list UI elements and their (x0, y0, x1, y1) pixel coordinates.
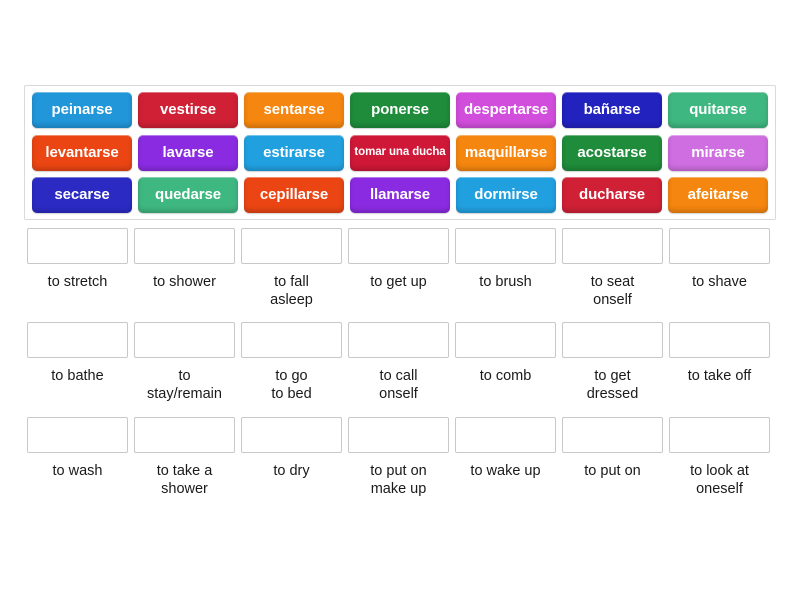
answer-cell: to get dressed (562, 322, 663, 403)
drop-box[interactable] (134, 322, 235, 358)
answer-label: to brush (479, 273, 531, 291)
answer-row: to batheto stay/remainto go to bedto cal… (24, 322, 776, 403)
answer-label: to put on make up (370, 462, 426, 498)
activity-page: peinarsevestirsesentarseponersedespertar… (0, 0, 800, 600)
answer-cell: to shave (669, 228, 770, 309)
word-tile[interactable]: sentarse (244, 92, 344, 128)
word-tile[interactable]: estirarse (244, 135, 344, 171)
word-tile[interactable]: quitarse (668, 92, 768, 128)
drop-box[interactable] (134, 417, 235, 453)
drop-box[interactable] (669, 322, 770, 358)
answer-label: to take off (688, 367, 751, 385)
word-tile[interactable]: secarse (32, 177, 132, 213)
drop-box[interactable] (134, 228, 235, 264)
word-tile[interactable]: tomar una ducha (350, 135, 450, 171)
answer-label: to stretch (48, 273, 108, 291)
word-tile[interactable]: ponerse (350, 92, 450, 128)
drop-box[interactable] (455, 417, 556, 453)
drop-box[interactable] (455, 322, 556, 358)
word-tile[interactable]: maquillarse (456, 135, 556, 171)
answer-cell: to take off (669, 322, 770, 403)
answer-label: to get up (370, 273, 426, 291)
answer-cell: to bathe (27, 322, 128, 403)
answer-cell: to put on (562, 417, 663, 498)
word-tile[interactable]: acostarse (562, 135, 662, 171)
answer-grid: to stretchto showerto fall asleepto get … (24, 228, 776, 511)
tile-row: levantarselavarseestirarsetomar una duch… (29, 134, 771, 172)
answer-cell: to comb (455, 322, 556, 403)
answer-label: to stay/remain (147, 367, 222, 403)
answer-label: to call onself (379, 367, 418, 403)
answer-cell: to call onself (348, 322, 449, 403)
tile-row: peinarsevestirsesentarseponersedespertar… (29, 91, 771, 129)
drop-box[interactable] (241, 417, 342, 453)
answer-row: to stretchto showerto fall asleepto get … (24, 228, 776, 309)
answer-cell: to get up (348, 228, 449, 309)
answer-label: to take a shower (157, 462, 213, 498)
drop-box[interactable] (562, 417, 663, 453)
answer-cell: to stretch (27, 228, 128, 309)
drop-box[interactable] (348, 322, 449, 358)
drop-box[interactable] (562, 322, 663, 358)
answer-cell: to shower (134, 228, 235, 309)
answer-label: to seat onself (591, 273, 635, 309)
word-tile[interactable]: quedarse (138, 177, 238, 213)
answer-cell: to fall asleep (241, 228, 342, 309)
answer-cell: to brush (455, 228, 556, 309)
answer-cell: to dry (241, 417, 342, 498)
word-tile[interactable]: despertarse (456, 92, 556, 128)
answer-cell: to go to bed (241, 322, 342, 403)
drop-box[interactable] (27, 322, 128, 358)
answer-label: to fall asleep (270, 273, 313, 309)
answer-cell: to seat onself (562, 228, 663, 309)
answer-label: to dry (273, 462, 309, 480)
word-tile[interactable]: vestirse (138, 92, 238, 128)
answer-label: to go to bed (271, 367, 311, 403)
drop-box[interactable] (562, 228, 663, 264)
drop-box[interactable] (241, 322, 342, 358)
answer-label: to shower (153, 273, 216, 291)
word-tile[interactable]: levantarse (32, 135, 132, 171)
drop-box[interactable] (455, 228, 556, 264)
drop-box[interactable] (241, 228, 342, 264)
word-tile[interactable]: mirarse (668, 135, 768, 171)
answer-label: to shave (692, 273, 747, 291)
drop-box[interactable] (27, 228, 128, 264)
answer-cell: to wash (27, 417, 128, 498)
answer-label: to comb (480, 367, 532, 385)
word-tile[interactable]: bañarse (562, 92, 662, 128)
word-tile[interactable]: ducharse (562, 177, 662, 213)
answer-label: to wake up (470, 462, 540, 480)
answer-label: to wash (53, 462, 103, 480)
word-tile[interactable]: peinarse (32, 92, 132, 128)
word-tile[interactable]: llamarse (350, 177, 450, 213)
answer-label: to look at oneself (690, 462, 749, 498)
tile-row: secarsequedarsecepillarsellamarsedormirs… (29, 176, 771, 214)
drop-box[interactable] (669, 417, 770, 453)
answer-row: to washto take a showerto dryto put on m… (24, 417, 776, 498)
word-tile[interactable]: dormirse (456, 177, 556, 213)
word-tile[interactable]: lavarse (138, 135, 238, 171)
drop-box[interactable] (348, 228, 449, 264)
answer-cell: to put on make up (348, 417, 449, 498)
word-tile[interactable]: afeitarse (668, 177, 768, 213)
answer-cell: to take a shower (134, 417, 235, 498)
drop-box[interactable] (27, 417, 128, 453)
drop-box[interactable] (348, 417, 449, 453)
word-tile[interactable]: cepillarse (244, 177, 344, 213)
answer-label: to get dressed (587, 367, 639, 403)
answer-cell: to stay/remain (134, 322, 235, 403)
answer-cell: to wake up (455, 417, 556, 498)
answer-label: to put on (584, 462, 640, 480)
answer-cell: to look at oneself (669, 417, 770, 498)
drop-box[interactable] (669, 228, 770, 264)
word-tile-bank: peinarsevestirsesentarseponersedespertar… (24, 85, 776, 220)
answer-label: to bathe (51, 367, 103, 385)
